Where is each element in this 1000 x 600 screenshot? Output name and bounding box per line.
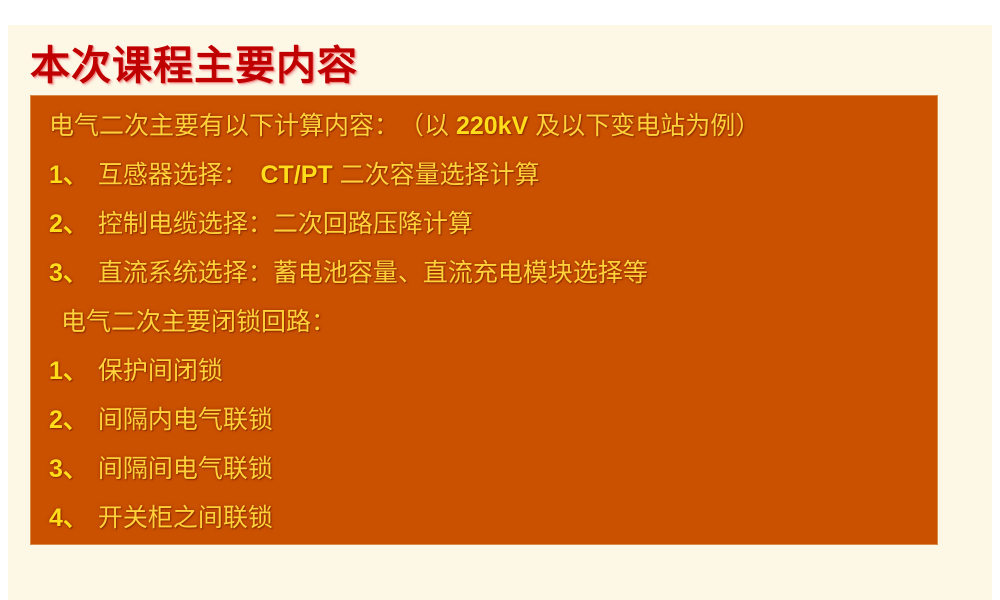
- content-line-calc-2: 2、控制电缆选择：二次回路压降计算: [31, 200, 937, 249]
- line-text-segment: 控制电缆选择：二次回路压降计算: [98, 210, 473, 238]
- list-number: 2: [49, 406, 63, 434]
- content-line-interlock-2: 2、间隔内电气联锁: [31, 396, 937, 445]
- line-text-segment: 间隔内电气联锁: [98, 406, 273, 434]
- content-line-interlock-3: 3、间隔间电气联锁: [31, 445, 937, 494]
- content-panel: 电气二次主要有以下计算内容： （以 220kV 及以下变电站为例）1、互感器选择…: [30, 95, 938, 545]
- line-text-segment: 二次容量选择计算: [333, 161, 540, 189]
- line-text-segment: 电气二次主要闭锁回路：: [61, 308, 336, 336]
- list-separator: 、: [63, 357, 98, 385]
- content-line-interlock-4: 4、开关柜之间联锁: [31, 494, 937, 543]
- line-text-segment: 及以下变电站为例）: [528, 112, 760, 140]
- content-line-calc-1: 1、互感器选择： CT/PT 二次容量选择计算: [31, 151, 937, 200]
- list-separator: 、: [63, 259, 98, 287]
- list-separator: 、: [63, 504, 98, 532]
- list-number: 2: [49, 210, 63, 238]
- list-separator: 、: [63, 210, 98, 238]
- slide-canvas: 本次课程主要内容 电气二次主要有以下计算内容： （以 220kV 及以下变电站为…: [8, 25, 992, 600]
- page-title: 本次课程主要内容: [30, 33, 358, 91]
- list-number: 4: [49, 504, 63, 532]
- list-number: 1: [49, 357, 63, 385]
- line-text-segment: 220kV: [456, 112, 528, 140]
- line-text-segment: 直流系统选择：蓄电池容量、直流充电模块选择等: [98, 259, 648, 287]
- line-text-segment: 开关柜之间联锁: [98, 504, 273, 532]
- list-separator: 、: [63, 161, 98, 189]
- content-line-calc-3: 3、直流系统选择：蓄电池容量、直流充电模块选择等: [31, 249, 937, 298]
- list-number: 3: [49, 259, 63, 287]
- content-line-interlock-1: 1、保护间闭锁: [31, 347, 937, 396]
- content-line-interlock-heading: 电气二次主要闭锁回路：: [31, 298, 937, 347]
- line-text-segment: 保护间闭锁: [98, 357, 223, 385]
- line-text-segment: 间隔间电气联锁: [98, 455, 273, 483]
- content-line-intro: 电气二次主要有以下计算内容： （以 220kV 及以下变电站为例）: [31, 102, 937, 151]
- list-number: 3: [49, 455, 63, 483]
- list-number: 1: [49, 161, 63, 189]
- list-separator: 、: [63, 406, 98, 434]
- list-separator: 、: [63, 455, 98, 483]
- line-text-segment: CT/PT: [260, 161, 332, 189]
- line-text-segment: 互感器选择：: [98, 161, 261, 189]
- line-text-segment: 电气二次主要有以下计算内容： （以: [49, 112, 456, 140]
